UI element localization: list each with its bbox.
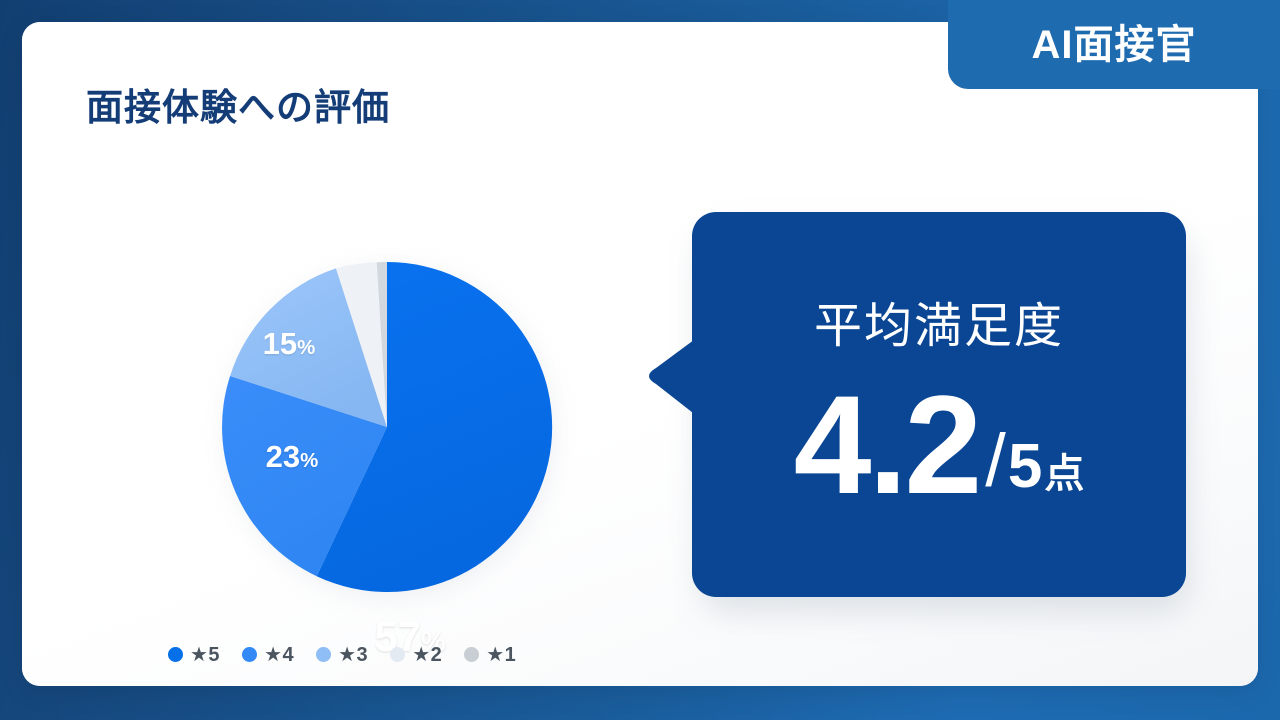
legend-dot-icon-rating-5: [168, 647, 183, 662]
pie-label-rating-4: 23%: [266, 439, 319, 475]
pie-chart-svg: [207, 237, 567, 597]
score-value: 4.2: [794, 381, 980, 510]
score-denominator: 5: [1008, 436, 1042, 498]
page-title: 面接体験への評価: [86, 77, 390, 131]
score-row: 4.2 / 5 点: [794, 381, 1085, 510]
slide-card: 面接体験への評価: [22, 22, 1258, 686]
legend-dot-icon-rating-3: [316, 647, 331, 662]
pie-chart: 57% 23% 15%: [207, 237, 567, 597]
callout-content: 平均満足度 4.2 / 5 点: [692, 212, 1186, 597]
pie-label-rating-3-unit: %: [297, 336, 315, 359]
average-score-callout: 平均満足度 4.2 / 5 点: [642, 212, 1187, 600]
app-badge: AI面接官: [948, 0, 1280, 89]
legend-dot-icon-rating-2: [390, 647, 405, 662]
pie-label-rating-4-value: 23: [266, 439, 300, 474]
legend-item-rating-4[interactable]: ★4: [242, 642, 294, 667]
app-badge-label: AI面接官: [1032, 25, 1197, 65]
legend-label-rating-1: ★1: [486, 642, 516, 667]
legend-dot-icon-rating-4: [242, 647, 257, 662]
pie-label-rating-3: 15%: [263, 326, 316, 362]
chart-legend: ★5 ★4 ★3 ★2 ★1: [168, 642, 516, 667]
pie-label-rating-3-value: 15: [263, 326, 297, 361]
pie-label-rating-4-unit: %: [300, 449, 318, 472]
score-unit: 点: [1044, 454, 1084, 494]
legend-label-rating-2: ★2: [412, 642, 442, 667]
legend-label-rating-3: ★3: [338, 642, 368, 667]
legend-label-rating-5: ★5: [190, 642, 220, 667]
legend-item-rating-1[interactable]: ★1: [464, 642, 516, 667]
legend-label-rating-4: ★4: [264, 642, 294, 667]
legend-dot-icon-rating-1: [464, 647, 479, 662]
score-separator: /: [985, 424, 1006, 498]
legend-item-rating-2[interactable]: ★2: [390, 642, 442, 667]
legend-item-rating-3[interactable]: ★3: [316, 642, 368, 667]
callout-heading: 平均満足度: [814, 303, 1064, 351]
legend-item-rating-5[interactable]: ★5: [168, 642, 220, 667]
